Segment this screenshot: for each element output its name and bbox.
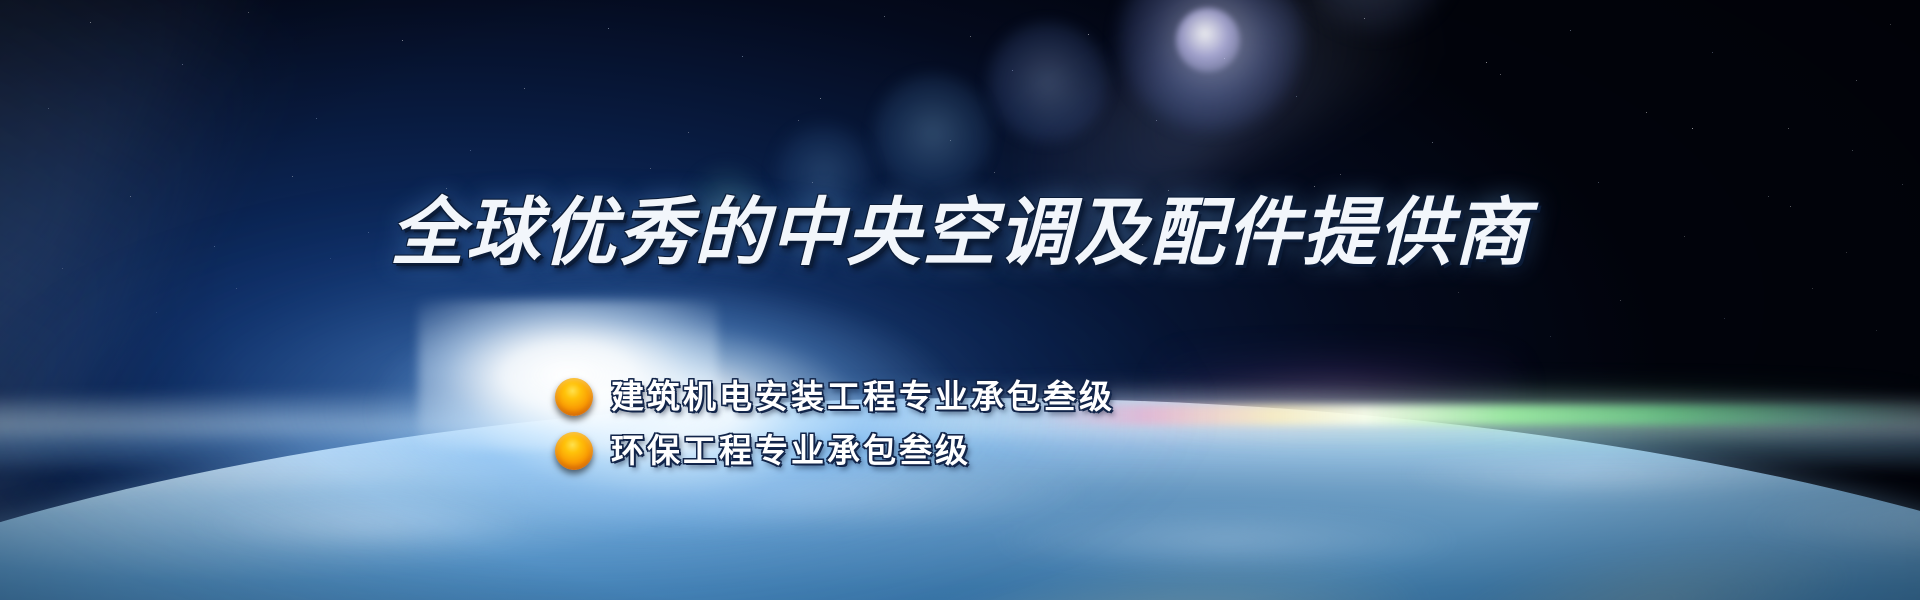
banner-content: 全球优秀的中央空调及配件提供商 建筑机电安装工程专业承包叁级 环保工程专业承包叁… [0, 0, 1920, 600]
bullet-dot-icon [555, 378, 593, 416]
hero-banner: 全球优秀的中央空调及配件提供商 建筑机电安装工程专业承包叁级 环保工程专业承包叁… [0, 0, 1920, 600]
bullet-item-2-label: 环保工程专业承包叁级 [611, 433, 971, 469]
bullet-item-2[interactable]: 环保工程专业承包叁级 [555, 432, 1115, 470]
banner-headline: 全球优秀的中央空调及配件提供商 [0, 196, 1920, 270]
bullet-dot-icon [555, 432, 593, 470]
banner-bullet-list: 建筑机电安装工程专业承包叁级 环保工程专业承包叁级 [555, 378, 1115, 470]
bullet-item-1[interactable]: 建筑机电安装工程专业承包叁级 [555, 378, 1115, 416]
bullet-item-1-label: 建筑机电安装工程专业承包叁级 [611, 379, 1115, 415]
